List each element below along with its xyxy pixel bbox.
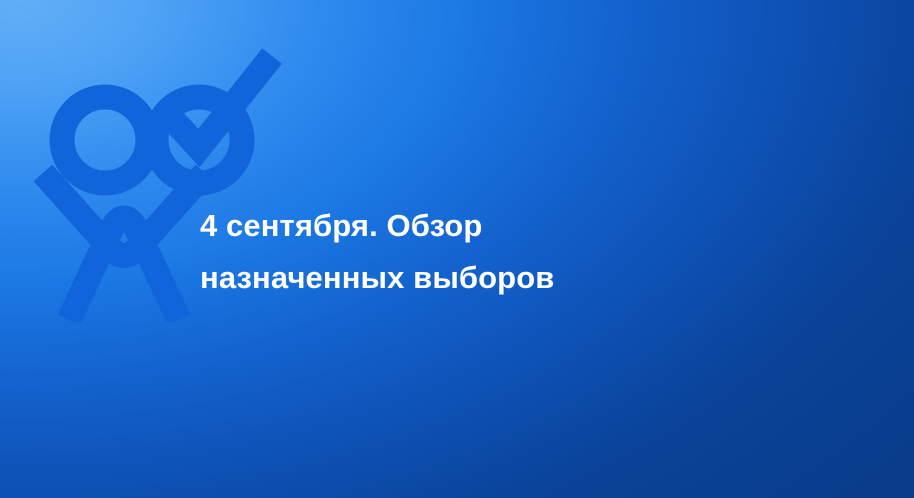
headline-line-2: назначенных выборов — [200, 252, 670, 304]
headline-line-1: 4 сентября. Обзор — [200, 200, 670, 252]
head-ring-left-icon — [62, 97, 148, 183]
banner-card: 4 сентября. Обзор назначенных выборов — [0, 0, 914, 498]
banner-headline: 4 сентября. Обзор назначенных выборов — [200, 200, 670, 304]
